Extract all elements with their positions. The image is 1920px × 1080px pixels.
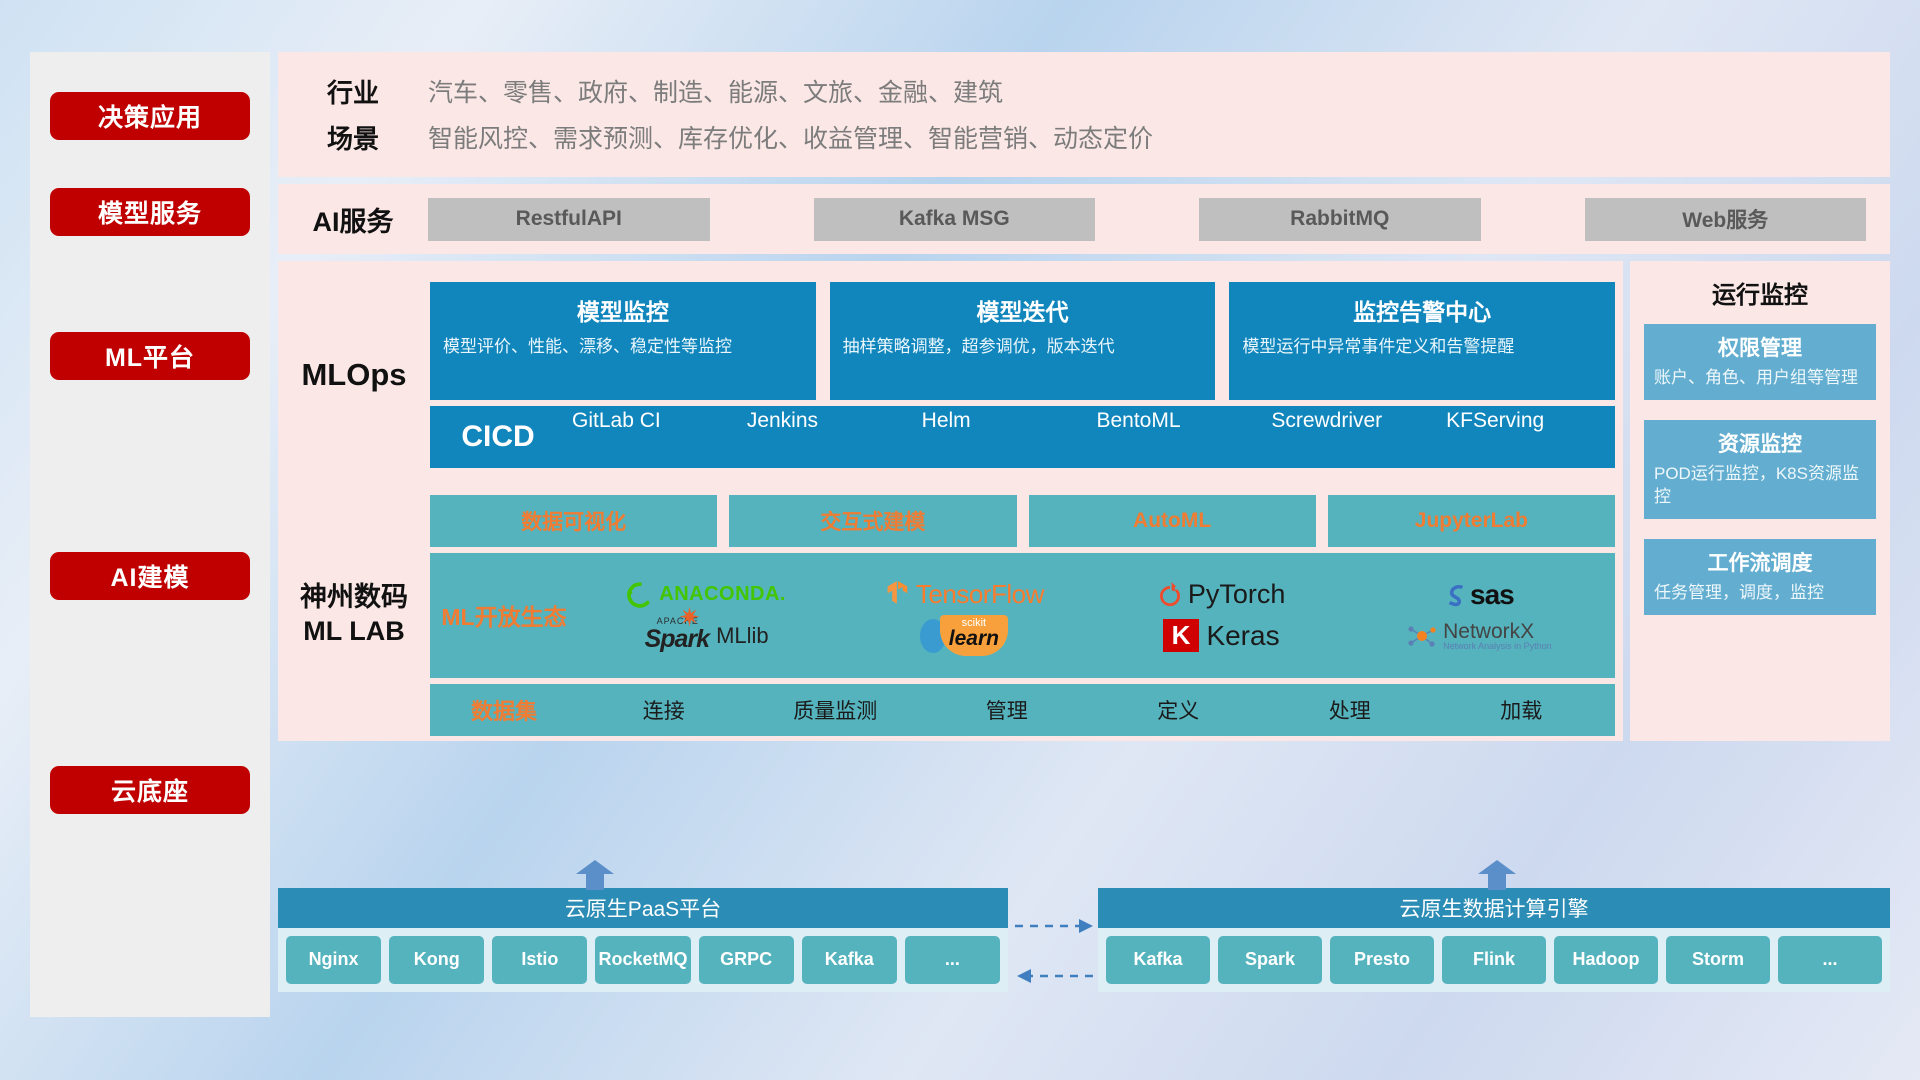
ml-open-ecosystem-label: ML开放生态 xyxy=(430,598,578,632)
engine-item-hadoop[interactable]: Hadoop xyxy=(1554,936,1658,984)
stage-label: 决策应用 xyxy=(98,98,202,134)
ai-service-chip-web[interactable]: Web服务 xyxy=(1585,198,1867,241)
sas-wordmark: sas xyxy=(1470,579,1514,611)
card-title: 权限管理 xyxy=(1654,332,1866,362)
monitoring-card-resources[interactable]: 资源监控 POD运行监控，K8S资源监控 xyxy=(1644,420,1876,519)
networkx-mark-icon xyxy=(1405,621,1439,651)
networkx-wordmark: NetworkX xyxy=(1443,621,1552,642)
spark-star-icon: ✷ xyxy=(679,602,701,633)
stage-label: 云底座 xyxy=(111,772,189,808)
cicd-item-screwdriver[interactable]: Screwdriver xyxy=(1265,406,1440,468)
scenario-value: 智能风控、需求预测、库存优化、收益管理、智能营销、动态定价 xyxy=(428,119,1153,155)
cicd-item-jenkins[interactable]: Jenkins xyxy=(741,406,916,468)
paas-item-nginx[interactable]: Nginx xyxy=(286,936,381,984)
mlops-card-alert-center[interactable]: 监控告警中心 模型运行中异常事件定义和告警提醒 xyxy=(1229,282,1615,400)
card-title: 资源监控 xyxy=(1654,428,1866,458)
paas-item-grpc[interactable]: GRPC xyxy=(699,936,794,984)
ml-lab-label-line1: 神州数码 xyxy=(278,581,430,615)
dataset-item-process[interactable]: 处理 xyxy=(1264,695,1436,725)
scikit-learn-logo: scikit learn xyxy=(920,615,1008,656)
stage-chip-ml-platform[interactable]: ML平台 xyxy=(50,332,250,380)
tool-chip-interactive-modeling[interactable]: 交互式建模 xyxy=(729,495,1016,547)
cicd-item-kfserving[interactable]: KFServing xyxy=(1440,406,1615,468)
card-title: 模型迭代 xyxy=(843,293,1203,327)
stage-rail: 决策应用 模型服务 ML平台 AI建模 云底座 xyxy=(30,52,270,1017)
mllib-wordmark: MLlib xyxy=(716,623,769,649)
cloud-foundation-section: 云原生PaaS平台 Nginx Kong Istio RocketMQ GRPC… xyxy=(278,858,1890,1018)
mlops-band: MLOps 模型监控 模型评价、性能、漂移、稳定性等监控 模型迭代 抽样策略调整… xyxy=(278,261,1623,489)
scenario-row: 场景 智能风控、需求预测、库存优化、收益管理、智能营销、动态定价 xyxy=(278,114,1890,160)
pytorch-mark-icon xyxy=(1157,581,1183,609)
pytorch-logo: PyTorch xyxy=(1157,579,1286,610)
bidirectional-link-arrows-icon xyxy=(1013,908,1097,994)
data-compute-engine-group: 云原生数据计算引擎 Kafka Spark Presto Flink Hadoo… xyxy=(1098,888,1890,992)
paas-item-more[interactable]: ... xyxy=(905,936,1000,984)
tensorflow-mark-icon xyxy=(884,580,912,610)
dataset-band: 数据集 连接 质量监测 管理 定义 处理 加载 xyxy=(430,684,1615,736)
paas-item-kong[interactable]: Kong xyxy=(389,936,484,984)
ml-lab-label-line2: ML LAB xyxy=(278,615,430,649)
ai-service-chip-rabbitmq[interactable]: RabbitMQ xyxy=(1199,198,1481,241)
dataset-label: 数据集 xyxy=(430,694,578,726)
pytorch-wordmark: PyTorch xyxy=(1188,579,1286,610)
dataset-item-load[interactable]: 加载 xyxy=(1436,695,1608,725)
paas-up-arrow-icon xyxy=(574,860,616,890)
cicd-label: CICD xyxy=(430,420,566,454)
ai-service-chip-restfulapi[interactable]: RestfulAPI xyxy=(428,198,710,241)
ml-open-ecosystem-band: ML开放生态 ANACONDA. xyxy=(430,553,1615,678)
industry-key: 行业 xyxy=(278,73,428,110)
stage-chip-decision[interactable]: 决策应用 xyxy=(50,92,250,140)
industry-row: 行业 汽车、零售、政府、制造、能源、文旅、金融、建筑 xyxy=(278,68,1890,114)
cicd-item-helm[interactable]: Helm xyxy=(916,406,1091,468)
tool-chip-data-visualization[interactable]: 数据可视化 xyxy=(430,495,717,547)
ai-service-chip-kafka-msg[interactable]: Kafka MSG xyxy=(814,198,1096,241)
tensorflow-wordmark: TensorFlow xyxy=(916,579,1044,610)
industry-value: 汽车、零售、政府、制造、能源、文旅、金融、建筑 xyxy=(428,73,1003,109)
sas-mark-icon xyxy=(1443,582,1469,608)
dataset-item-quality[interactable]: 质量监测 xyxy=(750,695,922,725)
engine-up-arrow-icon xyxy=(1476,860,1518,890)
paas-title: 云原生PaaS平台 xyxy=(278,888,1008,928)
scenario-key: 场景 xyxy=(278,119,428,156)
cicd-item-bentoml[interactable]: BentoML xyxy=(1090,406,1265,468)
engine-item-spark[interactable]: Spark xyxy=(1218,936,1322,984)
stage-chip-model-service[interactable]: 模型服务 xyxy=(50,188,250,236)
card-desc: 模型运行中异常事件定义和告警提醒 xyxy=(1242,335,1602,358)
card-desc: POD运行监控，K8S资源监控 xyxy=(1654,463,1866,509)
sas-logo: sas xyxy=(1443,579,1514,611)
anaconda-mark-icon xyxy=(627,582,653,608)
runtime-monitoring-title: 运行监控 xyxy=(1644,275,1876,310)
keras-logo: K Keras xyxy=(1163,619,1280,652)
learn-word: learn xyxy=(949,629,999,649)
runtime-monitoring-panel: 运行监控 权限管理 账户、角色、用户组等管理 资源监控 POD运行监控，K8S资… xyxy=(1630,261,1890,741)
engine-item-kafka[interactable]: Kafka xyxy=(1106,936,1210,984)
dataset-item-define[interactable]: 定义 xyxy=(1093,695,1265,725)
stage-label: ML平台 xyxy=(105,338,195,374)
tool-chip-automl[interactable]: AutoML xyxy=(1029,495,1316,547)
ml-lab-label: 神州数码 ML LAB xyxy=(278,581,430,649)
industry-scenario-band: 行业 汽车、零售、政府、制造、能源、文旅、金融、建筑 场景 智能风控、需求预测、… xyxy=(278,52,1890,177)
card-title: 工作流调度 xyxy=(1654,547,1866,577)
cicd-bar: CICD GitLab CI Jenkins Helm BentoML Scre… xyxy=(430,406,1615,468)
dataset-item-connect[interactable]: 连接 xyxy=(578,695,750,725)
ai-modeling-band: 神州数码 ML LAB 数据可视化 交互式建模 AutoML JupyterLa… xyxy=(278,489,1623,741)
card-desc: 抽样策略调整，超参调优，版本迭代 xyxy=(843,335,1203,358)
monitoring-card-permissions[interactable]: 权限管理 账户、角色、用户组等管理 xyxy=(1644,324,1876,400)
card-desc: 模型评价、性能、漂移、稳定性等监控 xyxy=(443,335,803,358)
engine-item-presto[interactable]: Presto xyxy=(1330,936,1434,984)
card-desc: 账户、角色、用户组等管理 xyxy=(1654,367,1866,390)
keras-mark-icon: K xyxy=(1163,619,1200,652)
monitoring-card-workflow[interactable]: 工作流调度 任务管理，调度，监控 xyxy=(1644,539,1876,615)
card-title: 模型监控 xyxy=(443,293,803,327)
mlops-label: MLOps xyxy=(278,357,430,393)
paas-item-kafka[interactable]: Kafka xyxy=(802,936,897,984)
scikit-orange-blob-icon: scikit learn xyxy=(940,615,1008,656)
engine-title: 云原生数据计算引擎 xyxy=(1098,888,1890,928)
card-desc: 任务管理，调度，监控 xyxy=(1654,582,1866,605)
tensorflow-logo: TensorFlow xyxy=(884,579,1044,610)
paas-item-rocketmq[interactable]: RocketMQ xyxy=(595,936,690,984)
stage-chip-cloud-base[interactable]: 云底座 xyxy=(50,766,250,814)
networkx-tagline: Network Analysis in Python xyxy=(1443,642,1552,651)
stage-label: AI建模 xyxy=(110,558,189,594)
dataset-item-manage[interactable]: 管理 xyxy=(921,695,1093,725)
anaconda-logo: ANACONDA. xyxy=(627,582,786,608)
architecture-stack: 行业 汽车、零售、政府、制造、能源、文旅、金融、建筑 场景 智能风控、需求预测、… xyxy=(278,52,1890,741)
ai-service-band: AI服务 RestfulAPI Kafka MSG RabbitMQ Web服务 xyxy=(278,184,1890,254)
spark-mllib-logo: ✷ APACHE Spark MLlib xyxy=(645,617,769,654)
ai-service-label: AI服务 xyxy=(278,200,428,239)
engine-item-storm[interactable]: Storm xyxy=(1666,936,1770,984)
paas-item-istio[interactable]: Istio xyxy=(492,936,587,984)
stage-chip-ai-modeling[interactable]: AI建模 xyxy=(50,552,250,600)
keras-wordmark: Keras xyxy=(1206,620,1279,652)
tool-chip-jupyterlab[interactable]: JupyterLab xyxy=(1328,495,1615,547)
engine-item-more[interactable]: ... xyxy=(1778,936,1882,984)
networkx-logo: NetworkX Network Analysis in Python xyxy=(1405,621,1552,651)
mlops-card-model-iteration[interactable]: 模型迭代 抽样策略调整，超参调优，版本迭代 xyxy=(830,282,1216,400)
stage-label: 模型服务 xyxy=(98,194,202,230)
mlops-card-model-monitoring[interactable]: 模型监控 模型评价、性能、漂移、稳定性等监控 xyxy=(430,282,816,400)
cicd-item-gitlab-ci[interactable]: GitLab CI xyxy=(566,406,741,468)
engine-item-flink[interactable]: Flink xyxy=(1442,936,1546,984)
paas-group: 云原生PaaS平台 Nginx Kong Istio RocketMQ GRPC… xyxy=(278,888,1008,992)
card-title: 监控告警中心 xyxy=(1242,293,1602,327)
